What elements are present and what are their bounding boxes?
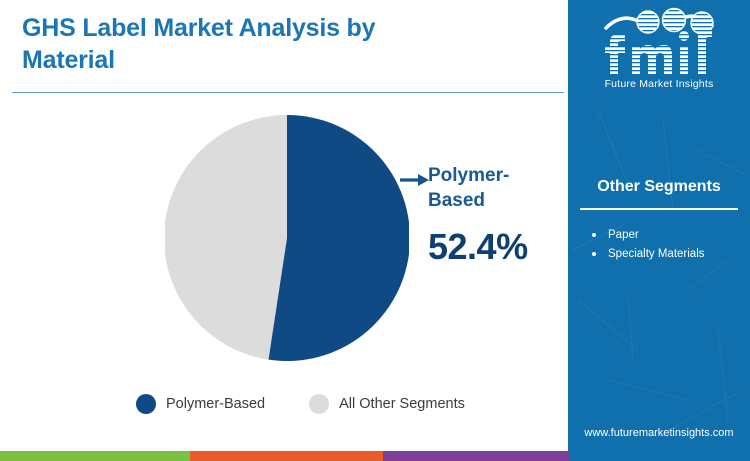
panel-heading-rule bbox=[580, 208, 738, 210]
other-segments-heading: Other Segments bbox=[568, 178, 750, 196]
side-panel: Future Market Insights Other Segments Pa… bbox=[568, 0, 750, 461]
people-icon bbox=[663, 9, 686, 32]
arrow-right-icon bbox=[400, 171, 430, 189]
header-divider bbox=[12, 92, 564, 93]
callout-label: Polymer-Based bbox=[428, 163, 558, 213]
list-item: Specialty Materials bbox=[592, 245, 747, 264]
legend-color-swatch bbox=[136, 394, 156, 414]
fmi-logo: Future Market Insights bbox=[568, 6, 750, 90]
logo-tagline: Future Market Insights bbox=[568, 78, 750, 90]
legend-label: Polymer-Based bbox=[166, 396, 265, 412]
list-item: Paper bbox=[592, 226, 747, 245]
pie-chart-svg bbox=[165, 114, 409, 362]
legend-item: All Other Segments bbox=[309, 394, 465, 414]
legend-label: All Other Segments bbox=[339, 396, 465, 412]
strip-segment-purple bbox=[383, 451, 569, 461]
pie-slice-polymer-based bbox=[269, 115, 409, 361]
pie-chart bbox=[165, 114, 409, 362]
list-item-label: Paper bbox=[608, 229, 639, 241]
page-title: GHS Label Market Analysis by Material bbox=[22, 12, 452, 76]
other-segments-list: Paper Specialty Materials bbox=[592, 226, 747, 263]
bullet-icon bbox=[592, 252, 596, 256]
bullet-icon bbox=[592, 233, 596, 237]
list-item-label: Specialty Materials bbox=[608, 248, 705, 260]
website-url[interactable]: www.futuremarketinsights.com bbox=[568, 427, 750, 439]
legend-item: Polymer-Based bbox=[136, 394, 265, 414]
legend-color-swatch bbox=[309, 394, 329, 414]
main-content-area: GHS Label Market Analysis by Material Po… bbox=[0, 0, 568, 451]
bottom-color-strip bbox=[0, 451, 750, 461]
callout-value: 52.4% bbox=[428, 226, 528, 268]
chart-legend: Polymer-Based All Other Segments bbox=[136, 394, 465, 414]
globe-icon bbox=[637, 11, 659, 33]
strip-segment-green bbox=[0, 451, 190, 461]
pie-slice-all-other-segments bbox=[165, 115, 287, 360]
strip-segment-blue bbox=[569, 451, 750, 461]
strip-segment-orange bbox=[190, 451, 383, 461]
infographic-canvas: GHS Label Market Analysis by Material Po… bbox=[0, 0, 750, 461]
fmi-logo-mark bbox=[592, 6, 726, 76]
